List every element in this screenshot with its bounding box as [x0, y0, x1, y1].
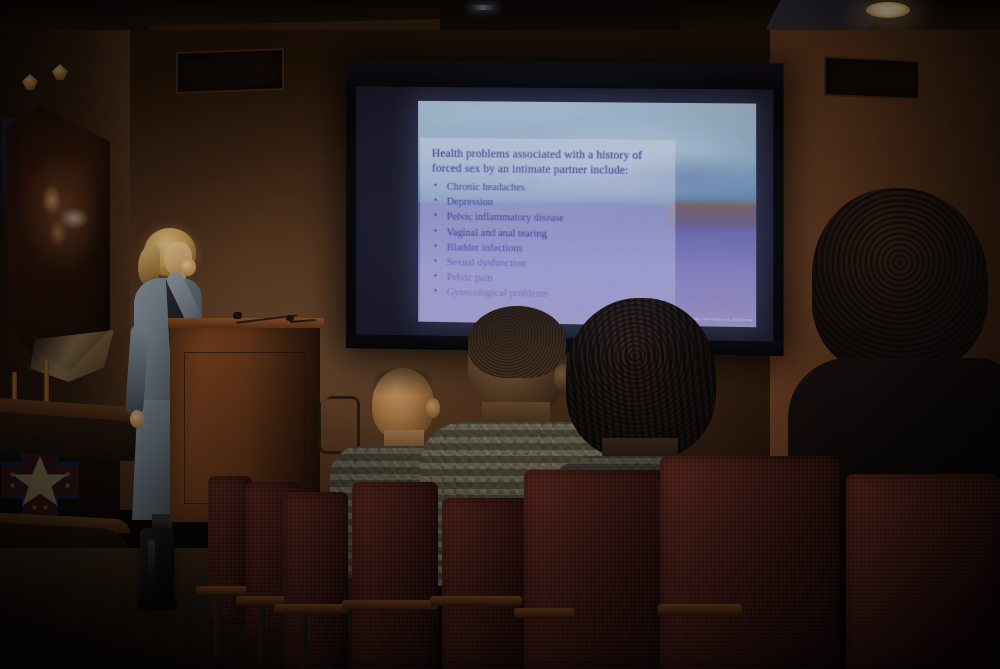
- seat-armrest: [430, 596, 522, 606]
- presenter-boot-sole: [138, 600, 178, 609]
- slide-landmass: [667, 201, 756, 229]
- slide-title: Health problems associated with a histor…: [432, 146, 665, 178]
- seat-leg: [214, 594, 221, 656]
- microphone-head: [233, 312, 242, 319]
- seat-leg: [258, 606, 265, 666]
- screen-top-casing: [346, 61, 783, 90]
- auditorium-seat: [524, 470, 670, 669]
- seat-armrest: [196, 586, 250, 596]
- slide-bullet-list: Chronic headaches Depression Pelvic infl…: [432, 180, 665, 305]
- seat-armrest: [342, 600, 438, 610]
- seat-armrest: [274, 604, 348, 614]
- auditorium-seat: [442, 498, 528, 669]
- seat-armrest: [514, 608, 574, 618]
- auditorium-seat: [352, 482, 438, 669]
- presenter-right-hand: [180, 258, 196, 276]
- microphone-head: [286, 315, 294, 321]
- auditorium-seat: [846, 474, 1000, 669]
- presenter-left-hand: [130, 410, 144, 428]
- auditorium-seat: [284, 492, 348, 669]
- seat-armrest: [658, 604, 742, 616]
- projector-indicator-lights: [470, 5, 496, 10]
- audience-member-3-hair: [566, 298, 716, 458]
- presenter-boot: [140, 528, 174, 610]
- presenter-boot-highlight: [148, 540, 155, 584]
- audience-member-4-hair: [812, 188, 988, 374]
- eagle-emblem-icon: [38, 176, 100, 268]
- wall-speaker-right: [824, 56, 920, 100]
- presentation-slide: Health problems associated with a histor…: [418, 101, 756, 327]
- auditorium-seat: [660, 456, 840, 669]
- seat-leg: [300, 614, 307, 669]
- wall-speaker-left: [176, 48, 284, 94]
- auditorium-briefing-photo: Health problems associated with a histor…: [0, 0, 1000, 669]
